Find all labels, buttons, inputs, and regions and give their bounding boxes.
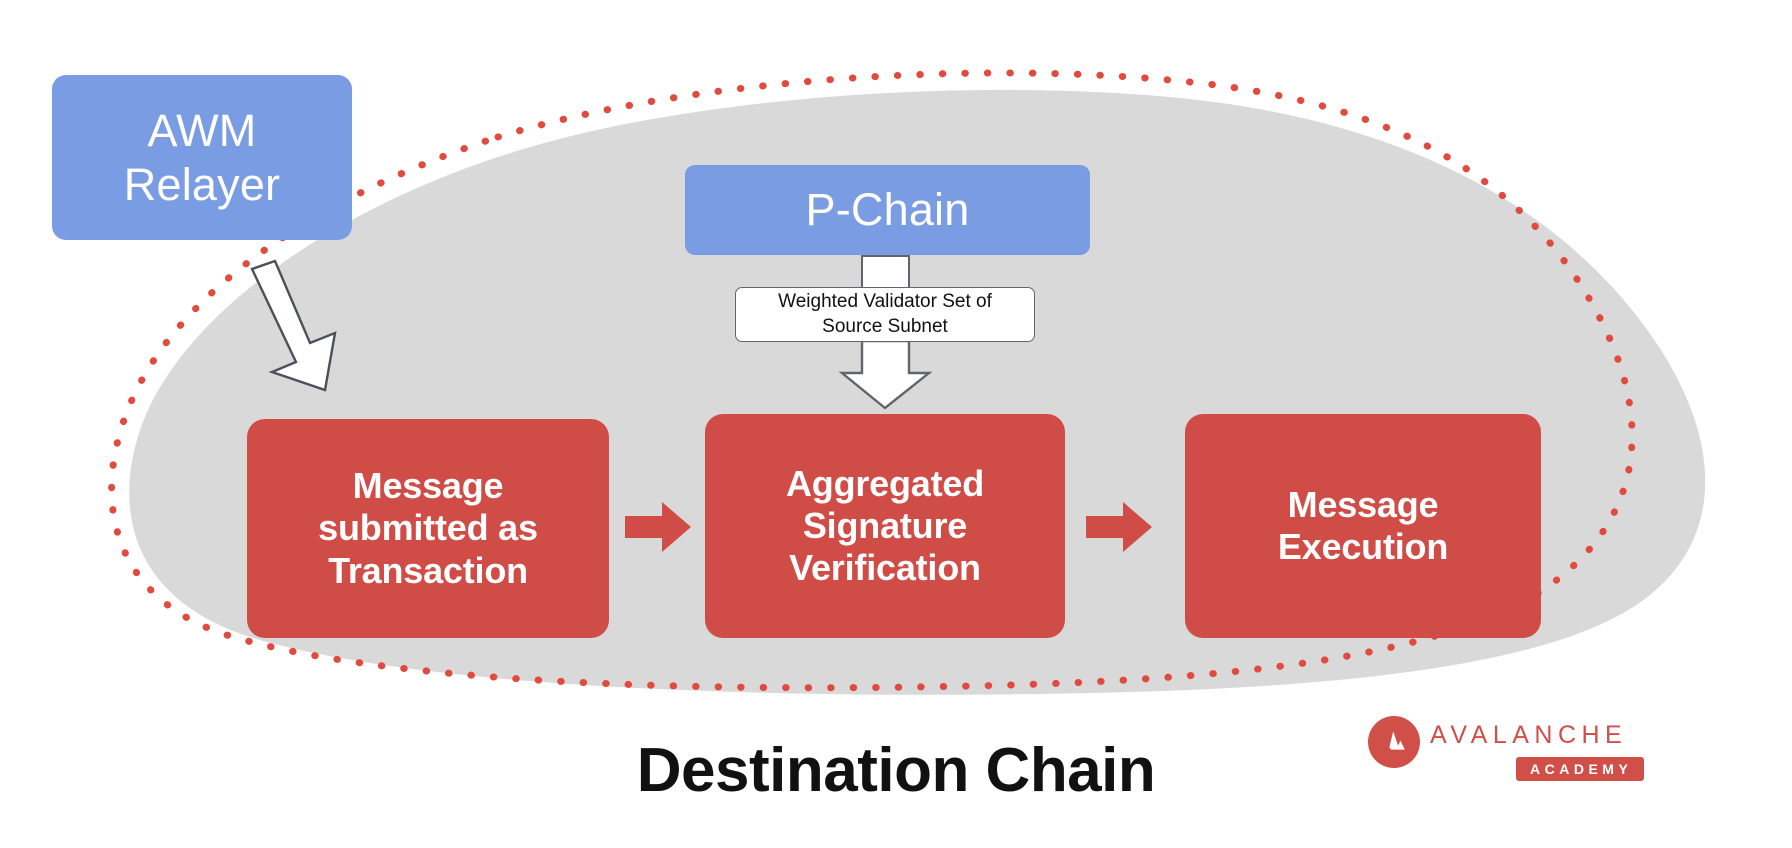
box-verify-line3: Verification xyxy=(786,547,984,589)
awm-relayer-label: AWM Relayer xyxy=(124,104,280,210)
arrow-verify-to-execute-icon xyxy=(1086,500,1152,554)
box-verify-line1: Aggregated xyxy=(786,463,984,505)
node-message-submitted-as-transaction[interactable]: Message submitted as Transaction xyxy=(247,419,609,638)
connector-pchain-to-validator xyxy=(862,256,909,290)
box-submit-label: Message submitted as Transaction xyxy=(308,465,548,591)
validator-set-line1: Weighted Validator Set of xyxy=(778,290,992,314)
box-execute-label: Message Execution xyxy=(1268,484,1458,568)
node-weighted-validator-set[interactable]: Weighted Validator Set of Source Subnet xyxy=(735,287,1035,342)
box-submit-line3: Transaction xyxy=(318,550,538,592)
box-submit-line2: submitted as xyxy=(318,507,538,549)
arrow-relayer-to-submit xyxy=(252,261,335,390)
arrow-submit-to-verify-icon xyxy=(625,500,691,554)
node-aggregated-signature-verification[interactable]: Aggregated Signature Verification xyxy=(705,414,1065,638)
box-execute-line1: Message xyxy=(1278,484,1448,526)
academy-badge-label: ACADEMY xyxy=(1530,761,1632,777)
arrow-validator-to-verify xyxy=(842,341,929,408)
avalanche-wordmark: AVALANCHE xyxy=(1430,721,1627,750)
node-awm-relayer[interactable]: AWM Relayer xyxy=(52,75,352,240)
avalanche-mark-icon xyxy=(1368,716,1420,768)
box-verify-line2: Signature xyxy=(786,505,984,547)
box-execute-line2: Execution xyxy=(1278,526,1448,568)
academy-badge: ACADEMY xyxy=(1516,757,1644,781)
avalanche-academy-logo: AVALANCHE ACADEMY xyxy=(1368,712,1648,784)
awm-relayer-line2: Relayer xyxy=(124,158,280,211)
awm-relayer-line1: AWM xyxy=(124,104,280,157)
validator-set-line2: Source Subnet xyxy=(778,315,992,339)
validator-set-label: Weighted Validator Set of Source Subnet xyxy=(778,290,992,339)
node-p-chain[interactable]: P-Chain xyxy=(685,165,1090,255)
avalanche-triangle-icon xyxy=(1377,725,1411,759)
box-submit-line1: Message xyxy=(318,465,538,507)
node-message-execution[interactable]: Message Execution xyxy=(1185,414,1541,638)
diagram-canvas: AWM Relayer P-Chain Weighted Validator S… xyxy=(0,0,1792,848)
box-verify-label: Aggregated Signature Verification xyxy=(776,463,994,589)
p-chain-label: P-Chain xyxy=(806,183,970,236)
